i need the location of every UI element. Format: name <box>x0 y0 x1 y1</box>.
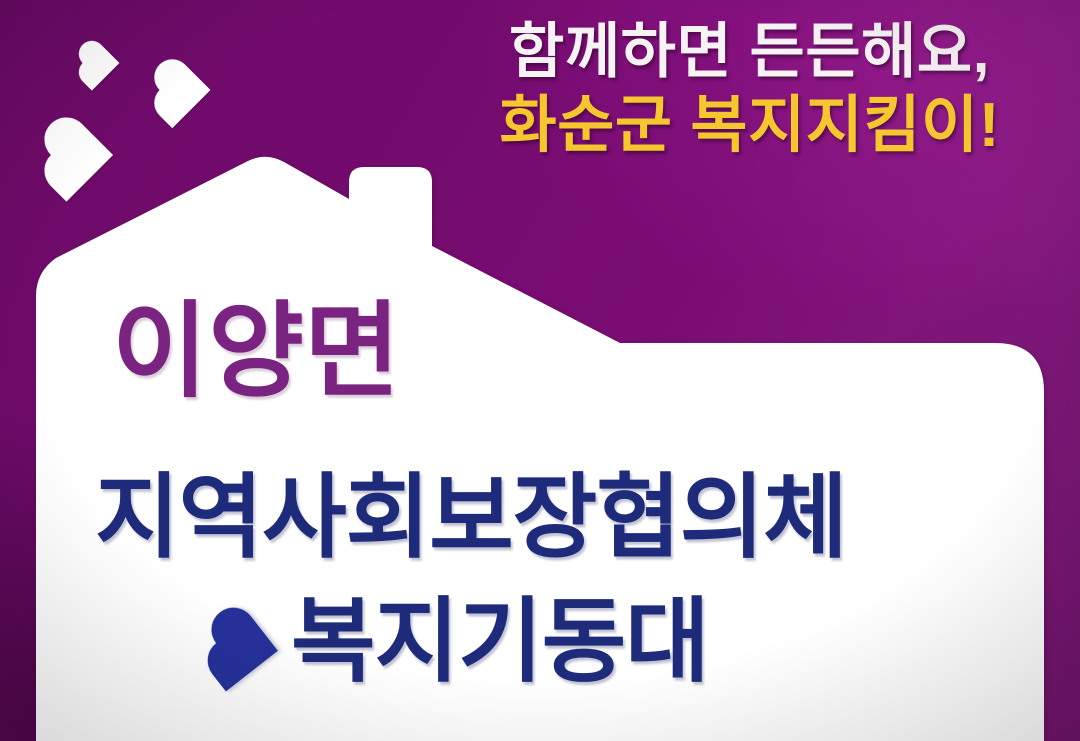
tagline-line-1: 함께하면 든든해요, <box>0 18 1000 85</box>
squad-name: 복지기동대 <box>291 596 709 688</box>
village-name: 이양면 <box>112 300 401 404</box>
council-name: 지역사회보장협의체 <box>95 472 847 564</box>
tagline-block: 함께하면 든든해요, 화순군 복지지킴이! <box>0 18 1040 161</box>
tagline-line-2: 화순군 복지지킴이! <box>0 91 1000 160</box>
signboard: 함께하면 든든해요, 화순군 복지지킴이! 이양면 지역사회보장협의체 복지기동… <box>0 0 1080 741</box>
heart-icon <box>216 616 278 678</box>
squad-row: 복지기동대 <box>225 596 709 688</box>
